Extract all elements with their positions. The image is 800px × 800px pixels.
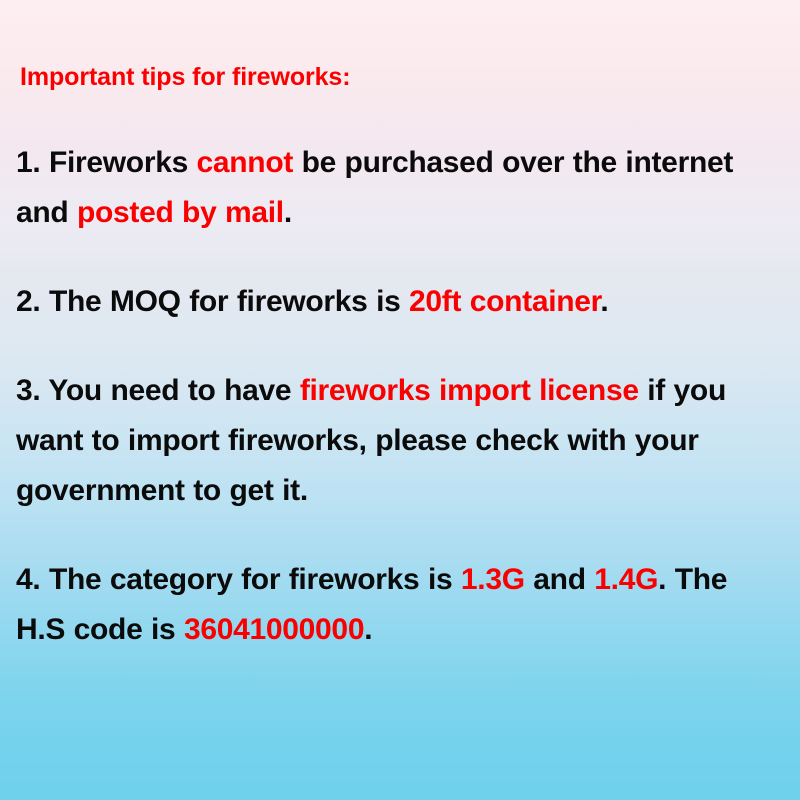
tip-3-segment-2-highlight: fireworks import license: [300, 374, 639, 407]
tip-4-segment-3: and: [525, 563, 595, 596]
tip-1-segment-4-highlight: posted by mail: [77, 196, 284, 229]
tip-item-1: 1. Fireworks cannot be purchased over th…: [16, 138, 782, 238]
fireworks-tips-poster: Important tips for fireworks: 1. Firewor…: [0, 0, 800, 800]
tip-1-segment-5: .: [284, 196, 292, 229]
tip-2-segment-1: 2. The MOQ for fireworks is: [16, 285, 409, 318]
tip-2-segment-3: .: [600, 285, 608, 318]
tip-2-segment-2-highlight: 20ft container: [409, 285, 600, 318]
tip-4-segment-1: 4. The category for fireworks is: [16, 563, 461, 596]
tip-4-segment-6-highlight: 36041000000: [184, 613, 364, 646]
tip-4-segment-2-highlight: 1.3G: [461, 563, 525, 596]
tip-item-3: 3. You need to have fireworks import lic…: [16, 366, 782, 516]
page-title: Important tips for fireworks:: [20, 62, 782, 94]
tip-1-segment-2-highlight: cannot: [197, 146, 294, 179]
poster-content: Important tips for fireworks: 1. Firewor…: [16, 62, 782, 655]
tip-item-4: 4. The category for fireworks is 1.3G an…: [16, 555, 782, 655]
tip-4-segment-4-highlight: 1.4G: [594, 563, 658, 596]
tip-3-segment-1: 3. You need to have: [16, 374, 300, 407]
tip-1-segment-1: 1. Fireworks: [16, 146, 197, 179]
tip-4-segment-7: .: [364, 613, 372, 646]
tip-item-2: 2. The MOQ for fireworks is 20ft contain…: [16, 277, 782, 327]
